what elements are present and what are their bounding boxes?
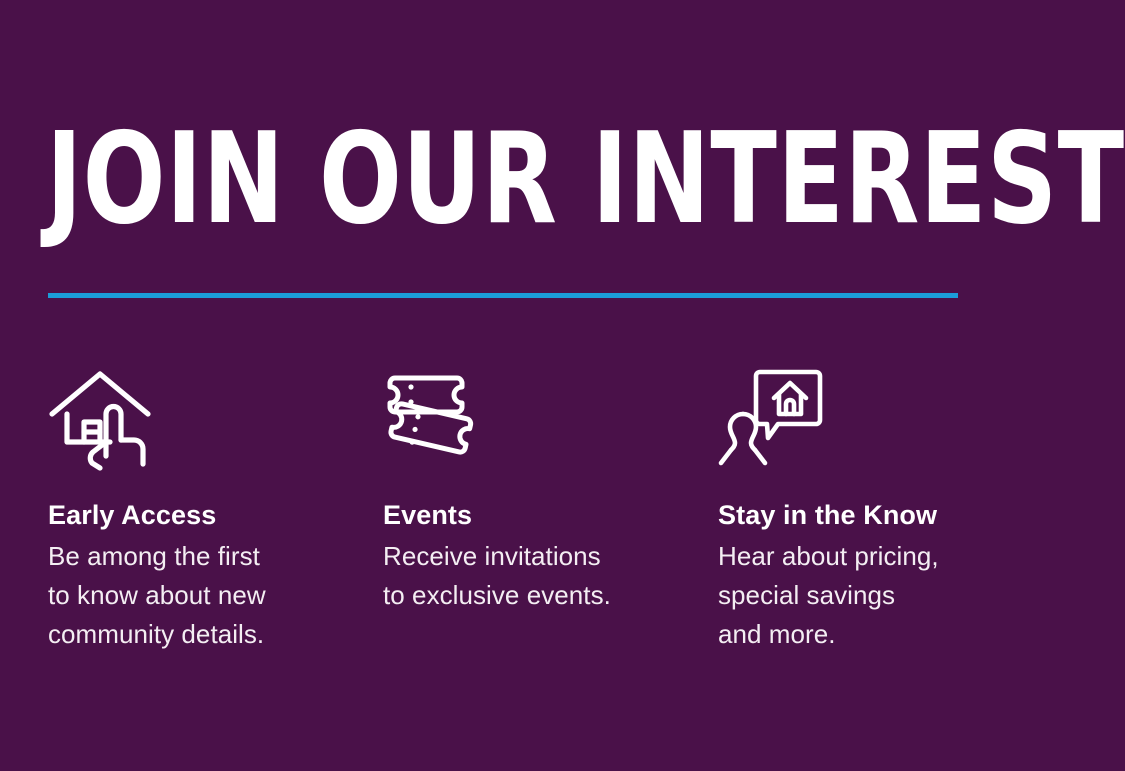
feature-item-stay-in-the-know: Stay in the Know Hear about pricing, spe… [718,356,1053,654]
feature-item-early-access: Early Access Be among the first to know … [48,356,383,654]
feature-description: Hear about pricing, special savings and … [718,537,1053,654]
feature-list: Early Access Be among the first to know … [48,356,1078,654]
feature-title: Early Access [48,498,383,532]
event-tickets-icon [383,356,718,468]
person-speech-bubble-house-icon [718,356,1053,468]
accent-divider [48,293,958,298]
feature-description: Receive invitations to exclusive events. [383,537,718,615]
feature-title: Events [383,498,718,532]
page-title: JOIN OUR INTEREST LIST [46,116,906,241]
house-with-pointing-hand-icon [48,356,383,468]
interest-list-promo-panel: JOIN OUR INTEREST LIST [0,0,1125,771]
feature-description: Be among the first to know about new com… [48,537,383,654]
feature-item-events: Events Receive invitations to exclusive … [383,356,718,615]
feature-title: Stay in the Know [718,498,1053,532]
